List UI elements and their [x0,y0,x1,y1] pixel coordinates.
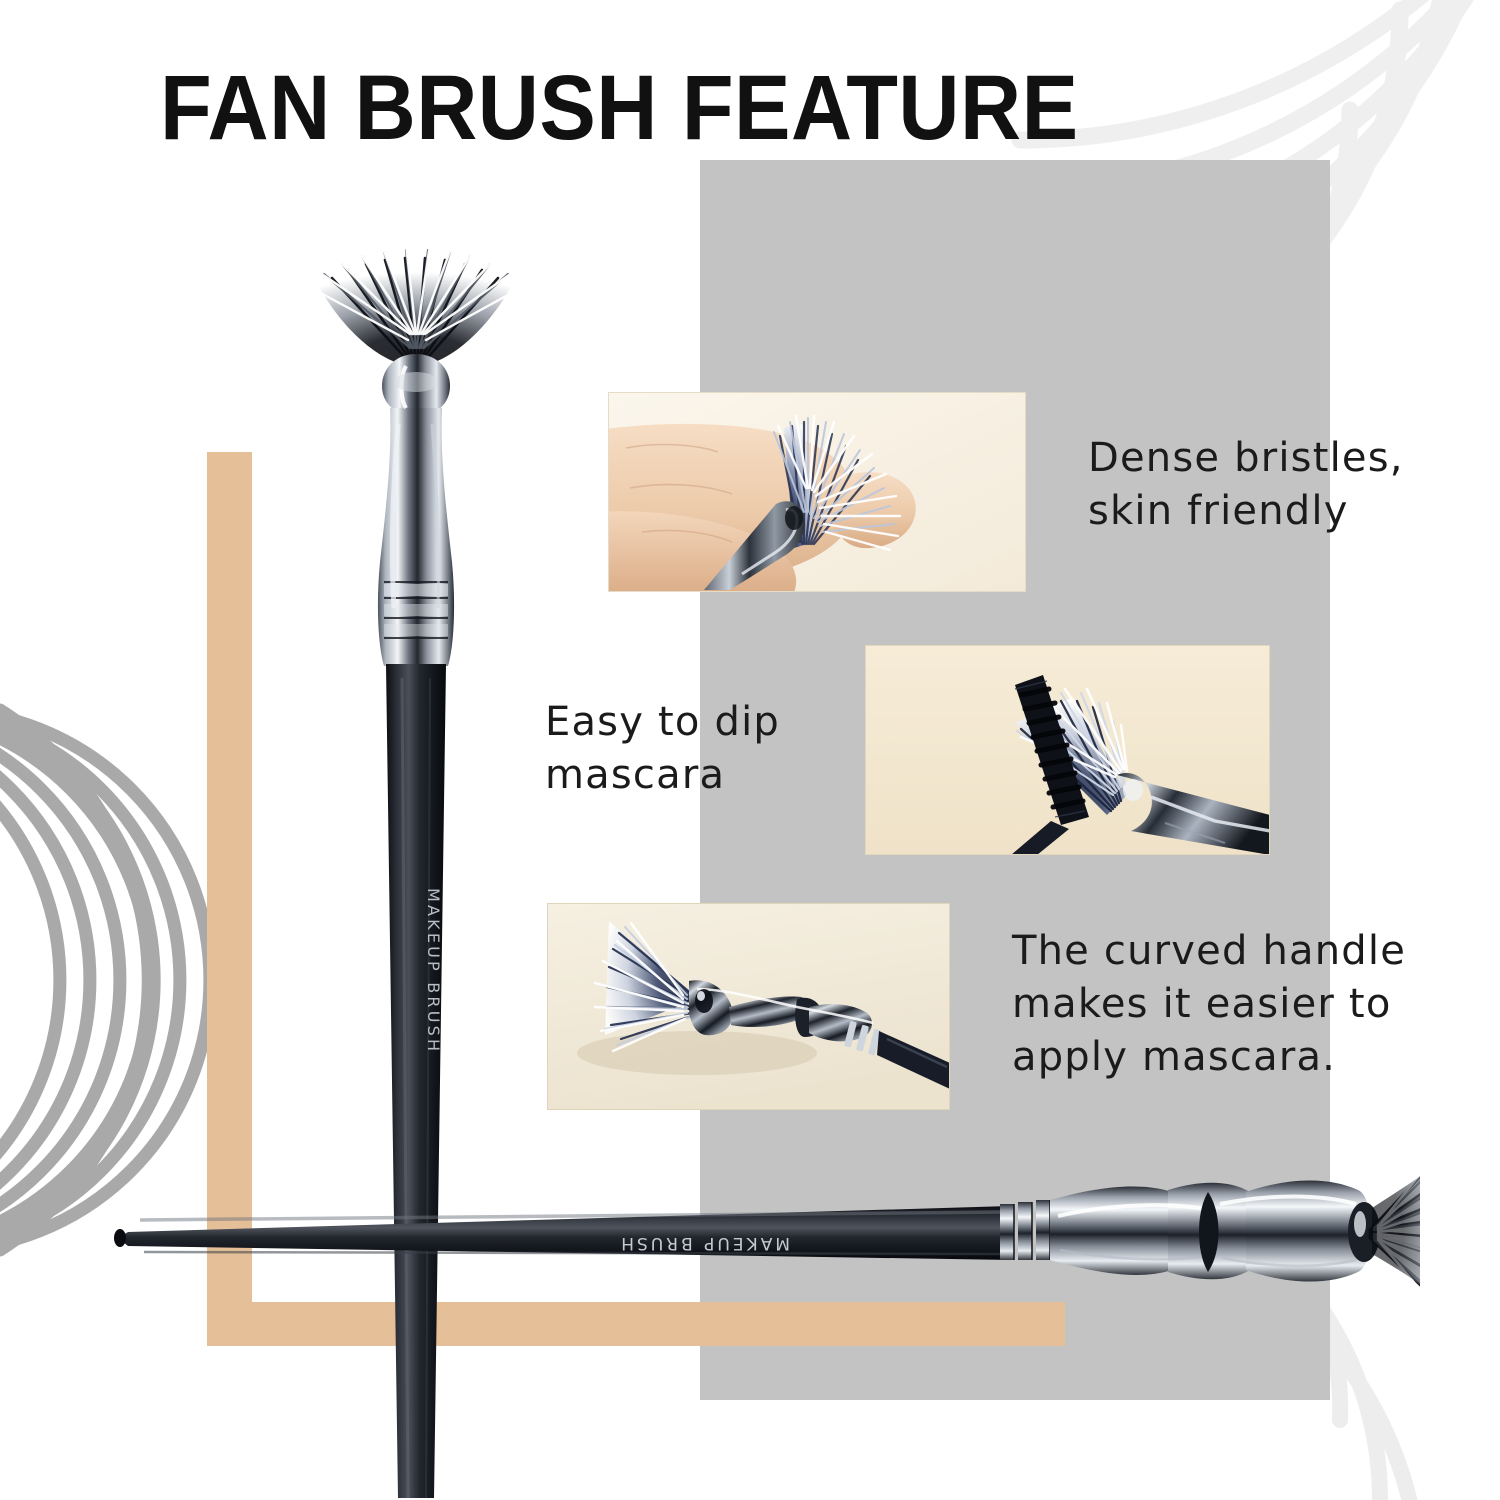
callout-curved-handle: The curved handle makes it easier to app… [1012,925,1406,1083]
product-brush-horizontal: MAKEUP BRUSH [100,1120,1420,1350]
photo-mascara-wand-dip [865,645,1270,855]
handle-brand-text-horizontal: MAKEUP BRUSH [618,1233,790,1253]
photo-fingers-holding-brush [608,392,1026,592]
callout-easy-to-dip: Easy to dip mascara [545,696,780,802]
page-title: FAN BRUSH FEATURE [160,62,1078,154]
photo-full-fan-brush [547,903,950,1110]
infographic-canvas: FAN BRUSH FEATURE [0,0,1500,1500]
handle-brand-text-vertical: MAKEUP BRUSH [424,888,443,1054]
callout-dense-bristles: Dense bristles, skin friendly [1088,432,1404,538]
